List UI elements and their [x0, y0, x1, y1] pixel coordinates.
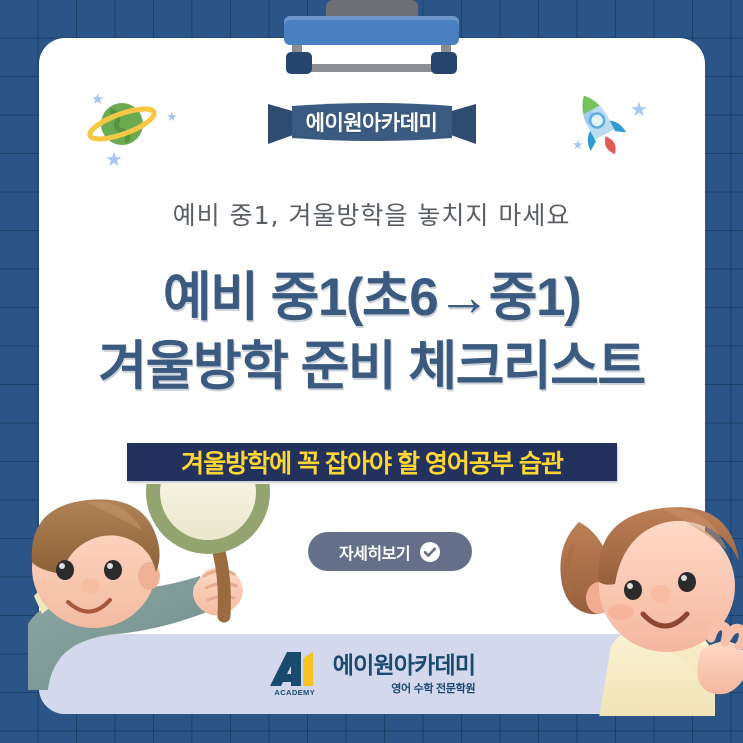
boy-with-magnifier-illustration: [28, 484, 278, 721]
clipboard-foot-right: [431, 52, 457, 74]
poster-canvas: 에이원아카데미 ★ ★ ★ ★ ★ 예비 중1, 겨울방: [0, 0, 743, 743]
brand-tagline: 영어 수학 전문학원: [333, 680, 476, 696]
rocket-icon: [566, 88, 632, 165]
girl-waving-illustration: [551, 486, 743, 721]
headline-line-2: 겨울방학 준비 체크리스트: [0, 333, 743, 402]
check-circle-icon: [419, 541, 441, 563]
view-details-label: 자세히보기: [339, 540, 410, 564]
star-icon: ★: [105, 150, 123, 170]
star-icon: ★: [572, 138, 584, 151]
headline-line-1: 예비 중1(초6→중1): [0, 264, 743, 333]
brand-ribbon: 에이원아카데미: [268, 100, 476, 148]
clipboard-foot-left: [286, 52, 312, 74]
ribbon-label: 에이원아카데미: [268, 100, 476, 144]
view-details-button[interactable]: 자세히보기: [308, 532, 472, 571]
highlight-banner: 겨울방학에 꼭 잡아야 할 영어공부 습관: [127, 443, 617, 481]
star-icon: ★: [91, 92, 104, 107]
highlight-text: 겨울방학에 꼭 잡아야 할 영어공부 습관: [181, 444, 563, 480]
clipboard-clip: [0, 0, 743, 80]
clipboard-bar: [284, 16, 459, 45]
brand-name: 에이원아카데미: [333, 652, 476, 678]
star-icon: ★: [630, 100, 648, 120]
subtitle: 예비 중1, 겨울방학을 놓치지 마세요: [0, 196, 743, 232]
brand-text: 에이원아카데미 영어 수학 전문학원: [333, 652, 476, 696]
page-title: 예비 중1(초6→중1) 겨울방학 준비 체크리스트: [0, 264, 743, 402]
clipboard-bottom-bar: [296, 64, 447, 72]
star-icon: ★: [166, 110, 178, 123]
